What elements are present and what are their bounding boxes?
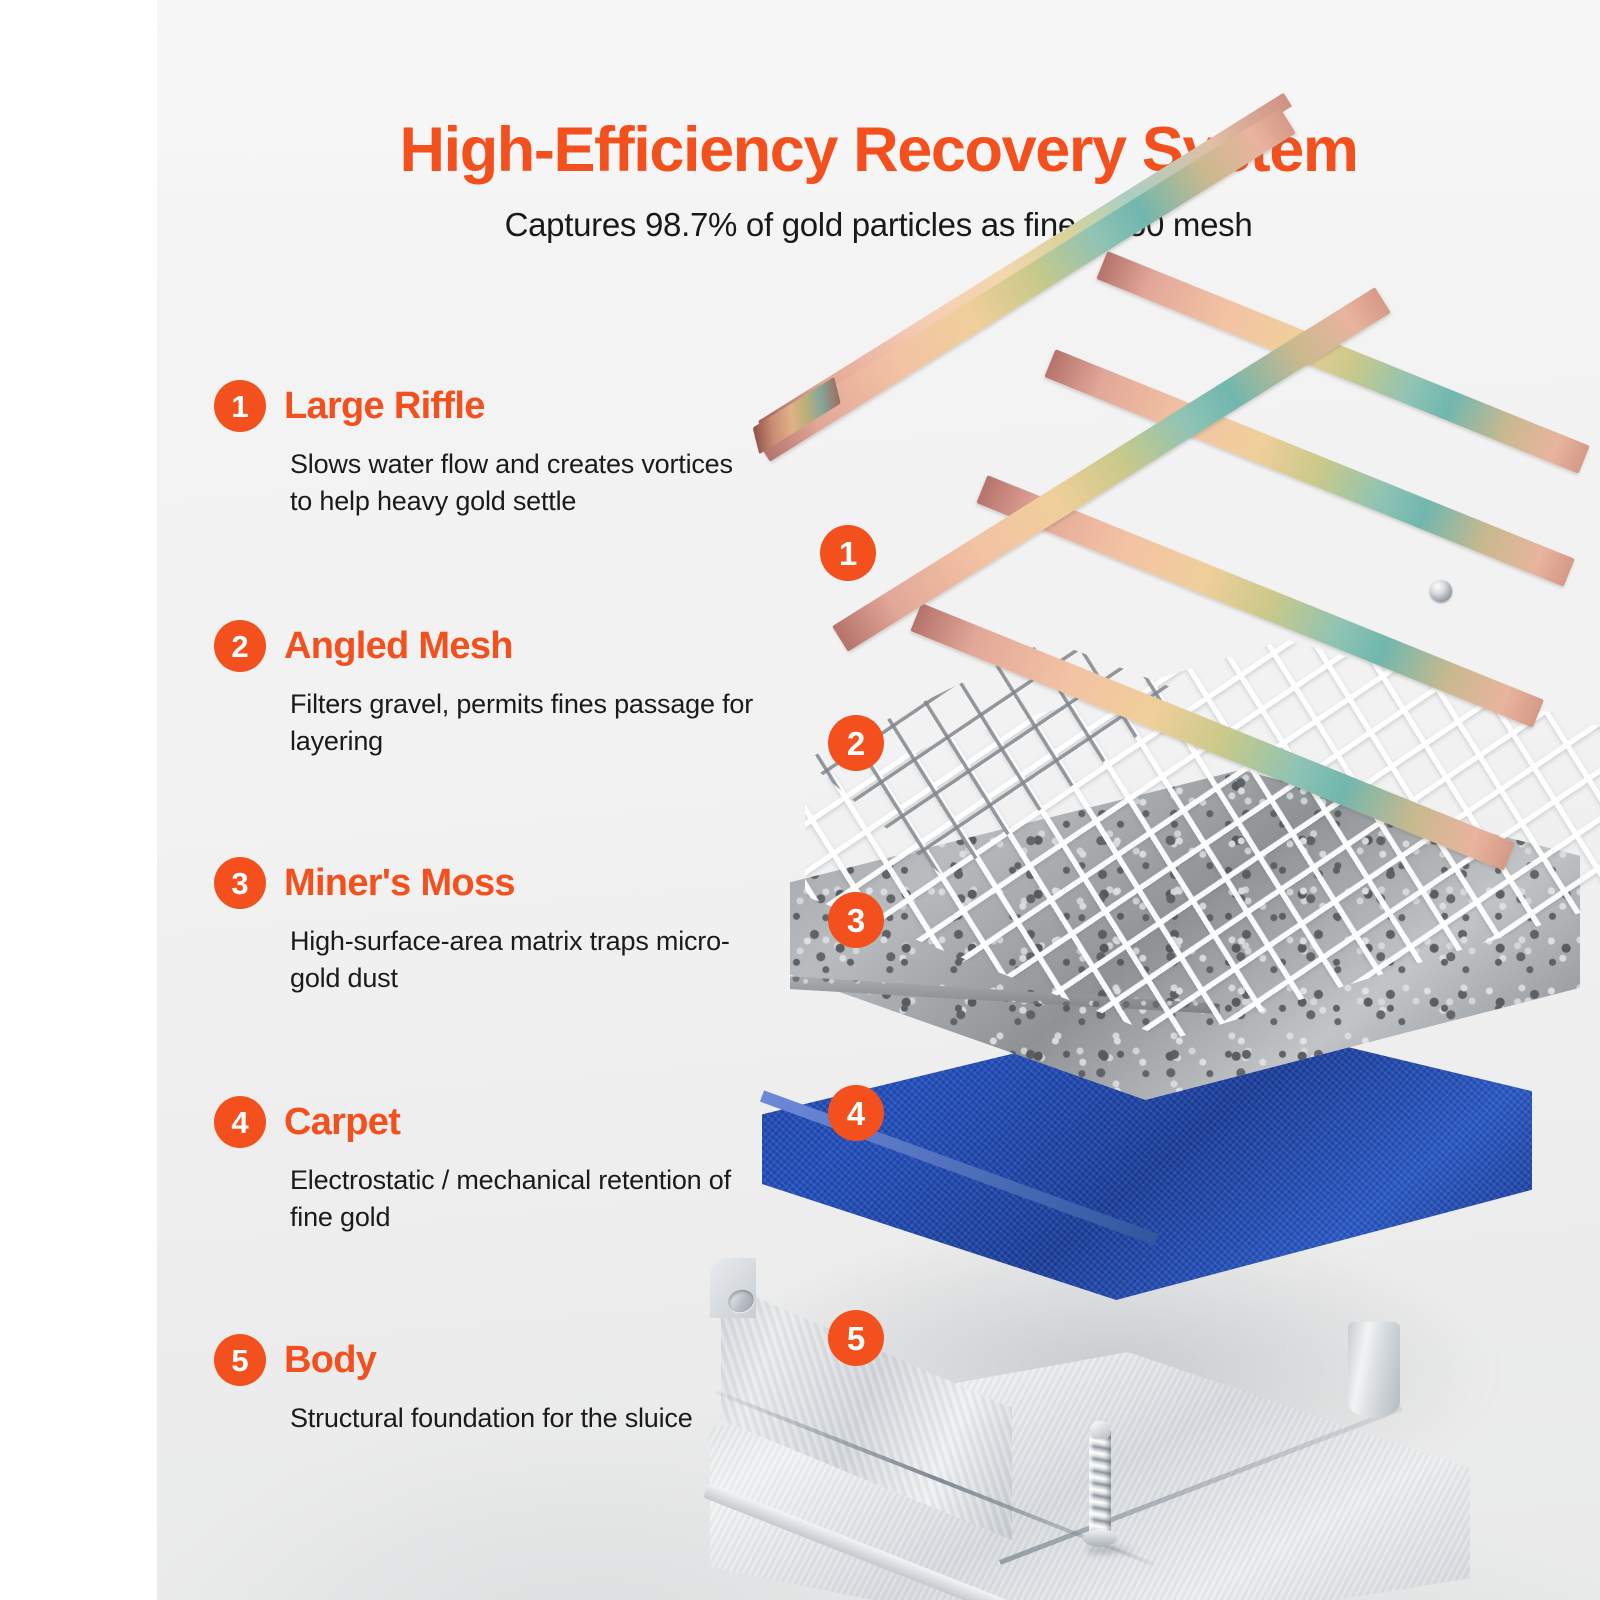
feature-item-angled-mesh: 2 Angled Mesh Filters gravel, permits fi… — [214, 618, 754, 761]
feature-header: 5 Body — [214, 1332, 754, 1388]
feature-header: 1 Large Riffle — [214, 378, 754, 434]
feature-description-4: Electrostatic / mechanical retention of … — [290, 1162, 754, 1237]
header: High-Efficiency Recovery System Captures… — [157, 0, 1600, 244]
product-infographic: High-Efficiency Recovery System Captures… — [0, 0, 1600, 1600]
feature-title-5: Body — [284, 1339, 376, 1382]
screw-flange — [1083, 1529, 1117, 1547]
callout-badge-1: 1 — [820, 525, 876, 581]
feature-badge-1: 1 — [214, 380, 266, 432]
feature-title-2: Angled Mesh — [284, 625, 513, 668]
body-support-foot — [1348, 1322, 1400, 1418]
feature-title-4: Carpet — [284, 1101, 400, 1144]
callout-badge-3: 3 — [828, 892, 884, 948]
feature-badge-3: 3 — [214, 857, 266, 909]
feature-header: 3 Miner's Moss — [214, 855, 754, 911]
feature-badge-5: 5 — [214, 1334, 266, 1386]
feature-badge-4: 4 — [214, 1096, 266, 1148]
feature-title-3: Miner's Moss — [284, 862, 515, 905]
body-screw-stud — [1083, 1415, 1117, 1555]
feature-item-miners-moss: 3 Miner's Moss High-surface-area matrix … — [214, 855, 754, 998]
callout-badge-5: 5 — [828, 1310, 884, 1366]
page-title: High-Efficiency Recovery System — [157, 118, 1600, 184]
feature-item-carpet: 4 Carpet Electrostatic / mechanical rete… — [214, 1094, 754, 1237]
screw-tip — [1090, 1421, 1110, 1439]
layer-large-riffle — [750, 220, 1600, 760]
riffle-rivet — [1430, 580, 1452, 602]
feature-item-large-riffle: 1 Large Riffle Slows water flow and crea… — [214, 378, 754, 521]
feature-description-2: Filters gravel, permits fines passage fo… — [290, 686, 754, 761]
callout-badge-4: 4 — [828, 1085, 884, 1141]
callout-badge-2: 2 — [828, 715, 884, 771]
screw-threaded-shaft — [1089, 1429, 1111, 1537]
product-exploded-view: 1 2 3 4 5 — [700, 210, 1600, 1600]
feature-item-body: 5 Body Structural foundation for the slu… — [214, 1332, 754, 1437]
feature-description-1: Slows water flow and creates vortices to… — [290, 446, 754, 521]
feature-header: 4 Carpet — [214, 1094, 754, 1150]
feature-header: 2 Angled Mesh — [214, 618, 754, 674]
feature-badge-2: 2 — [214, 620, 266, 672]
feature-title-1: Large Riffle — [284, 385, 485, 428]
feature-description-3: High-surface-area matrix traps micro-gol… — [290, 923, 754, 998]
feature-description-5: Structural foundation for the sluice — [290, 1400, 754, 1437]
